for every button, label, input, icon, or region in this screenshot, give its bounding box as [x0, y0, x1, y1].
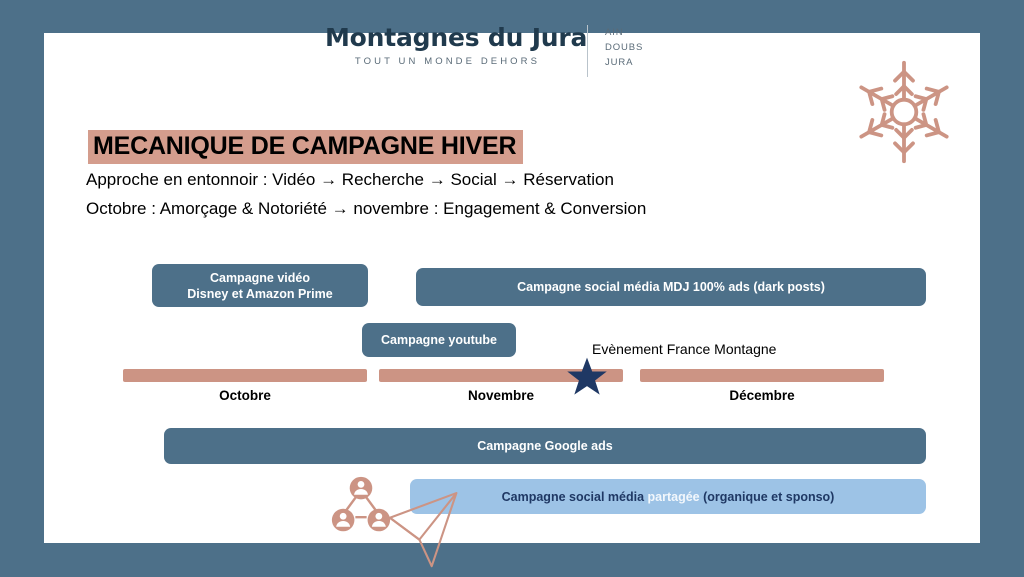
- logo-wordmark: Montagnes du Jura: [325, 23, 570, 52]
- logo-tagline: TOUT UN MONDE DEHORS: [325, 56, 570, 67]
- campaign-box-google-ads[interactable]: Campagne Google ads: [164, 428, 926, 464]
- timeline-label-decembre: Décembre: [640, 388, 884, 403]
- campaign-shared-suffix: (organique et sponso): [700, 490, 835, 504]
- campaign-social-mdj-label: Campagne social média MDJ 100% ads (dark…: [517, 279, 825, 295]
- share-network-icon: [328, 474, 394, 536]
- campaign-box-video[interactable]: Campagne vidéo Disney et Amazon Prime: [152, 264, 368, 307]
- logo-region-line: AIN: [605, 25, 643, 40]
- brand-logo: Montagnes du Jura TOUT UN MONDE DEHORS A…: [325, 23, 670, 85]
- timeline-event-label: Evènement France Montagne: [592, 341, 776, 357]
- page-title: MECANIQUE DE CAMPAGNE HIVER: [88, 130, 523, 164]
- timeline-bar-decembre: [640, 369, 884, 382]
- campaign-shared-highlight: partagée: [648, 490, 700, 504]
- campaign-video-line1: Campagne vidéo: [187, 270, 332, 286]
- campaign-box-social-mdj[interactable]: Campagne social média MDJ 100% ads (dark…: [416, 268, 926, 306]
- timeline-label-octobre: Octobre: [123, 388, 367, 403]
- subtitle-phases: Octobre : Amorçage & Notoriété → novembr…: [86, 199, 646, 219]
- logo-region-list: AIN DOUBS JURA: [605, 25, 643, 70]
- campaign-google-ads-label: Campagne Google ads: [477, 438, 612, 454]
- snowflake-icon: [848, 56, 960, 168]
- campaign-video-line2: Disney et Amazon Prime: [187, 286, 332, 302]
- paper-plane-icon: [388, 492, 464, 572]
- star-icon: [565, 356, 609, 398]
- subtitle-funnel: Approche en entonnoir : Vidéo → Recherch…: [86, 170, 614, 190]
- slide-frame: Montagnes du Jura TOUT UN MONDE DEHORS A…: [0, 0, 1024, 576]
- timeline-bar-octobre: [123, 369, 367, 382]
- logo-region-line: JURA: [605, 55, 643, 70]
- logo-divider: [587, 25, 588, 77]
- campaign-youtube-label: Campagne youtube: [381, 332, 497, 348]
- campaign-shared-prefix: Campagne social média: [502, 490, 648, 504]
- logo-region-line: DOUBS: [605, 40, 643, 55]
- campaign-box-social-shared[interactable]: Campagne social média partagée (organiqu…: [410, 479, 926, 514]
- campaign-box-youtube[interactable]: Campagne youtube: [362, 323, 516, 357]
